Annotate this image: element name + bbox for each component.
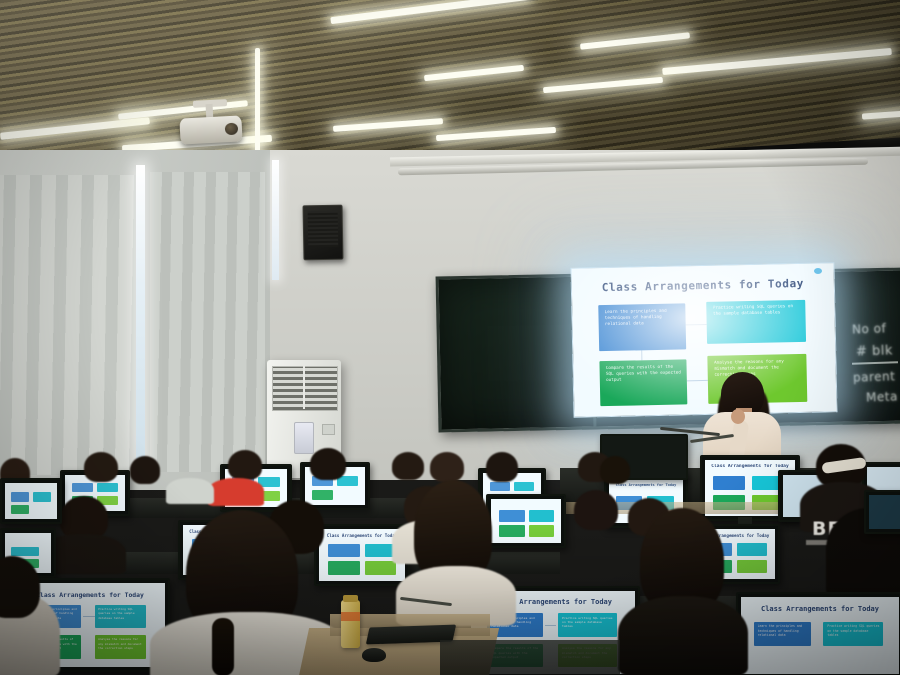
student-hair xyxy=(130,456,160,484)
slide-title: Class Arrangements for Today xyxy=(324,533,400,538)
window-curtain-left xyxy=(0,175,140,475)
air-conditioner-button[interactable] xyxy=(322,424,335,435)
slide-box-cyan: Practice writing SQL queries on the samp… xyxy=(95,605,146,628)
slide-connector xyxy=(545,625,556,626)
slide-box-blue xyxy=(713,476,745,491)
slide-box-green xyxy=(11,505,29,514)
slide-box-blue xyxy=(490,482,510,491)
slide-box-cyan xyxy=(11,547,39,557)
speaker-grille xyxy=(308,211,339,248)
student-shoulders xyxy=(166,478,214,504)
slide-box-green xyxy=(312,490,332,500)
slide-box-text: Practice writing SQL queries on the samp… xyxy=(98,607,142,620)
projected-slide: Class Arrangements for Today Learn the p… xyxy=(741,597,899,674)
slide-box-text: Practice writing SQL queries on the samp… xyxy=(827,624,879,637)
slide-box-cyan xyxy=(737,543,767,556)
slide-connector xyxy=(83,616,95,617)
slide-box-lime: Analyse the reasons for any mismatch and… xyxy=(95,635,146,659)
slide-box-lime xyxy=(737,560,767,573)
student-hair xyxy=(228,450,262,480)
slide-box-cyan xyxy=(33,492,51,501)
chalk-note: parent xyxy=(853,369,896,384)
slide-box-cyan xyxy=(514,482,534,491)
student-hair xyxy=(84,452,118,482)
monitor-screen xyxy=(491,499,561,543)
student-monitor[interactable] xyxy=(864,490,900,534)
slide-box-blue xyxy=(72,483,92,492)
air-conditioner-panel[interactable] xyxy=(294,422,314,454)
slide-box-lime xyxy=(529,525,554,536)
screen-corner-marker xyxy=(814,268,822,274)
classroom-photo: No of # blk parent Meta Class Arrangemen… xyxy=(0,0,900,675)
student-hair xyxy=(486,452,518,482)
chalk-note: Meta xyxy=(866,389,898,404)
monitor-screen xyxy=(5,483,57,519)
monitor-screen: Class Arrangements for Today Learn the p… xyxy=(741,597,899,674)
slide-title: Class Arrangements for Today xyxy=(750,605,889,613)
water-bottle-label xyxy=(341,612,360,621)
ceiling-light-vertical xyxy=(255,48,260,158)
slide-box-blue xyxy=(499,510,525,521)
slide-title: Class Arrangements for Today xyxy=(710,464,789,469)
slide-box-lime xyxy=(365,561,396,575)
projected-slide xyxy=(5,483,57,519)
student-hair xyxy=(600,456,630,484)
slide-box-cyan: Practice writing SQL queries on the samp… xyxy=(558,613,617,636)
air-conditioner-vent xyxy=(272,366,338,411)
student-hair xyxy=(430,452,464,482)
slide-box-green xyxy=(499,525,525,536)
slide-box-green xyxy=(328,561,360,575)
chalk-note: # blk xyxy=(856,343,893,359)
screen-glare xyxy=(571,263,836,416)
slide-box-blue: Learn the principles and techniques of h… xyxy=(754,622,811,647)
student-shoulders-foreground xyxy=(618,596,748,675)
student-shoulders xyxy=(208,478,264,506)
air-conditioner-vent-divider xyxy=(303,366,305,409)
desk-row-1 xyxy=(440,640,620,675)
window-curtain-center xyxy=(150,172,265,472)
projector-lens xyxy=(225,123,239,136)
student-monitor[interactable]: Class Arrangements for Today Learn the p… xyxy=(736,592,900,675)
water-bottle[interactable] xyxy=(341,600,360,648)
slide-box-text: Practice writing SQL queries on the samp… xyxy=(562,616,613,629)
student-hair xyxy=(310,448,346,480)
slide-box-cyan xyxy=(97,483,117,492)
wall-speaker xyxy=(303,205,344,261)
lecturer-hand xyxy=(731,409,745,424)
window-light-gap xyxy=(272,160,279,280)
slide-box-cyan xyxy=(529,510,554,521)
mouse[interactable] xyxy=(362,648,386,662)
projected-slide xyxy=(491,499,561,543)
slide-box-text: Learn the principles and techniques of h… xyxy=(758,624,808,637)
student-braid xyxy=(212,618,234,675)
projection-screen: Class Arrangements for Today Learn the p… xyxy=(570,262,837,417)
student-hair xyxy=(574,490,618,530)
slide-box-blue xyxy=(328,544,360,558)
student-monitor[interactable] xyxy=(0,478,62,524)
slide-box-cyan: Practice writing SQL queries on the samp… xyxy=(823,622,883,647)
ceiling-projector xyxy=(179,115,242,144)
slide-box-text: Analyse the reasons for any mismatch and… xyxy=(98,637,142,650)
slide-title: Class Arrangements for Today xyxy=(24,591,156,599)
slide-box-blue xyxy=(11,492,29,501)
water-bottle-cap[interactable] xyxy=(343,595,358,602)
student-monitor[interactable] xyxy=(486,494,566,548)
window-light-gap xyxy=(136,165,145,465)
student-hair xyxy=(392,452,424,480)
monitor-screen xyxy=(869,495,900,529)
chalk-note: No of xyxy=(852,321,887,336)
slide-title: Class Arrangements for Today xyxy=(613,483,678,487)
